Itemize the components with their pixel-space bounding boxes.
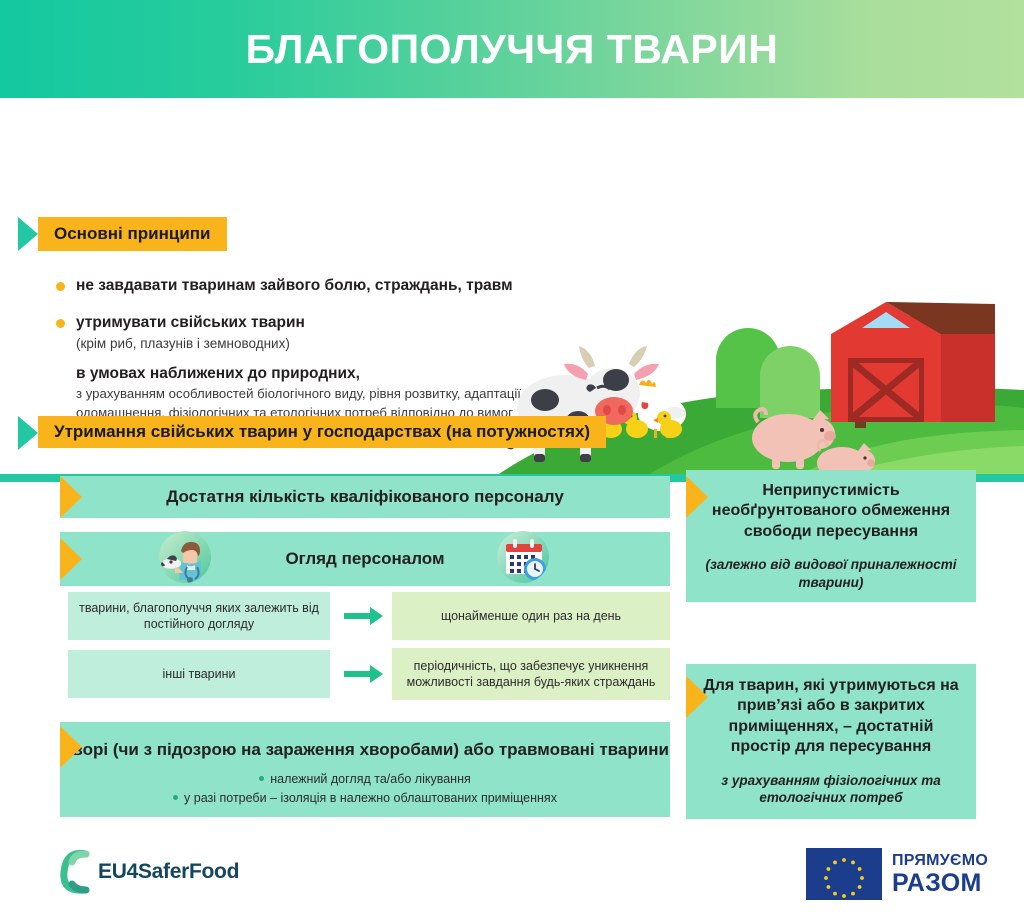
notch-arrow-icon — [686, 476, 708, 518]
bullet-primary-text: утримувати свійських тварин — [76, 313, 526, 332]
list-item: не завдавати тваринам зайвого болю, стра… — [56, 276, 526, 295]
keeping-tag-label: Утримання свійських тварин у господарств… — [38, 416, 606, 448]
list-item: належний догляд та/або лікування — [173, 770, 557, 789]
sick-bullet-text: належний догляд та/або лікування — [270, 772, 471, 786]
right-arrow-icon — [344, 607, 383, 625]
eu-flag-icon — [806, 848, 882, 900]
table-row: щонайменше один раз на день — [392, 592, 670, 640]
bullet-primary-text: не завдавати тваринам зайвого болю, стра… — [76, 276, 526, 295]
freedom-panel-note: (залежно від видової приналежності твари… — [700, 556, 962, 591]
bullet-dot-icon — [173, 795, 178, 800]
sick-panel-title: Хворі (чи з підозрою на зараження хвороб… — [61, 739, 669, 761]
calendar-clock-icon — [497, 531, 549, 583]
freedom-panel-title: Неприпустимість необґрунтованого обмежен… — [700, 481, 962, 542]
table-row: періодичність, що забезпечує уникнення м… — [392, 648, 670, 700]
together-line-2: РАЗОМ — [892, 871, 988, 896]
bullet-parenthetical-text: (крім риб, плазунів і земноводних) — [76, 335, 526, 353]
page-header: БЛАГОПОЛУЧЧЯ ТВАРИН — [0, 0, 1024, 98]
together-line-1: ПРЯМУЄМО — [892, 853, 988, 869]
bullet-dot-icon — [259, 776, 264, 781]
notch-arrow-icon — [60, 538, 82, 580]
staff-panel-label: Достатня кількість кваліфікованого персо… — [166, 487, 564, 507]
vet-with-animal-icon — [159, 531, 211, 583]
bullet-dot-icon — [56, 282, 65, 291]
farm-scene-illustration — [490, 288, 1024, 480]
table-row: інші тварини — [68, 650, 330, 698]
notch-arrow-icon — [60, 726, 82, 768]
bullet-secondary-heading: в умовах наближених до природних, — [76, 364, 526, 383]
inspection-panel-label: Огляд персоналом — [285, 549, 444, 569]
eu4saferfood-logo: EU4SaferFood — [56, 846, 239, 898]
right-arrow-icon — [344, 665, 383, 683]
sick-animals-panel: Хворі (чи з підозрою на зараження хвороб… — [60, 722, 670, 817]
table-row: тварини, благополуччя яких залежить від … — [68, 592, 330, 640]
triangle-arrow-icon — [18, 416, 38, 450]
list-item: у разі потреби – ізоляція в належно обла… — [173, 789, 557, 808]
page-title: БЛАГОПОЛУЧЧЯ ТВАРИН — [246, 29, 779, 70]
space-panel-note: з урахуванням фізіологічних та етологічн… — [698, 772, 964, 807]
bullet-dot-icon — [56, 319, 65, 328]
principles-section: Основні принципи не завдавати тваринам з… — [0, 98, 1024, 382]
freedom-of-movement-panel: Неприпустимість необґрунтованого обмежен… — [686, 470, 976, 602]
sick-bullet-text: у разі потреби – ізоляція в належно обла… — [184, 791, 557, 805]
principles-tag: Основні принципи — [18, 217, 227, 251]
space-panel-title: Для тварин, які утримуються на прив’язі … — [698, 676, 964, 758]
row-condition-text: інші тварини — [163, 666, 236, 682]
eu-together-logo: ПРЯМУЄМО РАЗОМ — [806, 848, 988, 900]
space-requirement-panel: Для тварин, які утримуються на прив’язі … — [686, 664, 976, 819]
triangle-arrow-icon — [18, 217, 38, 251]
notch-arrow-icon — [686, 676, 708, 718]
notch-arrow-icon — [60, 476, 82, 518]
keeping-tag: Утримання свійських тварин у господарств… — [18, 416, 606, 450]
page-footer: EU4SaferFood ПРЯМУЄМО РАЗОМ — [0, 836, 1024, 916]
eu4saferfood-mark-icon — [56, 846, 96, 898]
eu4saferfood-wordmark: EU4SaferFood — [98, 860, 239, 884]
row-frequency-text: щонайменше один раз на день — [441, 608, 621, 624]
staff-panel: Достатня кількість кваліфікованого персо… — [60, 476, 670, 518]
row-frequency-text: періодичність, що забезпечує уникнення м… — [392, 658, 670, 691]
principles-tag-label: Основні принципи — [38, 217, 227, 251]
row-condition-text: тварини, благополуччя яких залежить від … — [68, 600, 330, 633]
inspection-panel: Огляд персоналом — [60, 532, 670, 586]
